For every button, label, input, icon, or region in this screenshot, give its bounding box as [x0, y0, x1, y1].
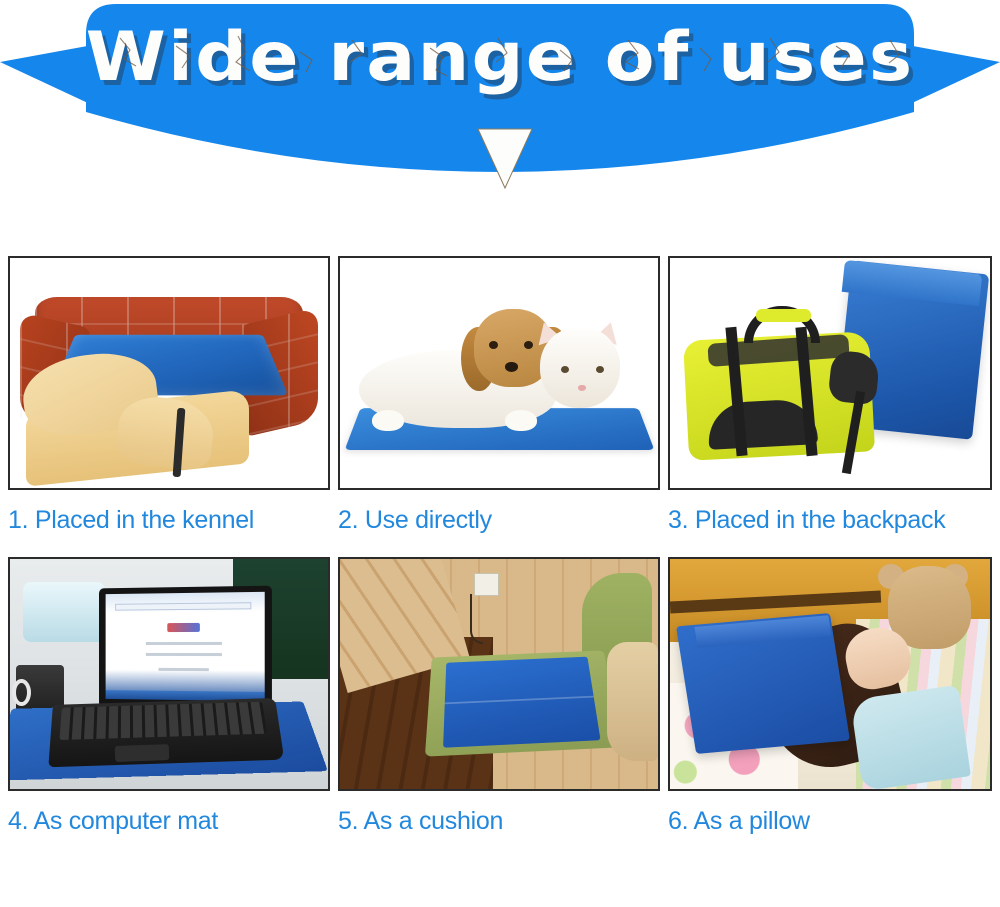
use-caption-6: 6. As a pillow: [668, 805, 992, 837]
puppy-and-cat-on-mat-photo: [338, 256, 660, 490]
mat-on-chair-seat-photo: [338, 557, 660, 791]
header-banner: Wide range of uses: [0, 0, 1000, 215]
product-infographic-page: Wide range of uses: [0, 0, 1000, 907]
girl-sleeping-on-mat-photo: [668, 557, 992, 791]
use-caption-2: 2. Use directly: [338, 504, 660, 536]
use-item-5: 5. As a cushion: [338, 557, 660, 837]
use-item-1: 1. Placed in the kennel: [8, 256, 330, 536]
pet-carrier-bag-with-mat-photo: [668, 256, 992, 490]
uses-row-2: 4. As computer mat: [8, 557, 992, 837]
use-caption-3: 3. Placed in the backpack: [668, 504, 992, 536]
use-caption-5: 5. As a cushion: [338, 805, 660, 837]
pet-bed-with-cooling-mat-photo: [8, 256, 330, 490]
laptop-on-mat-photo: [8, 557, 330, 791]
uses-grid: 1. Placed in the kennel: [8, 256, 992, 837]
uses-row-1: 1. Placed in the kennel: [8, 256, 992, 536]
page-title: Wide range of uses: [0, 18, 1000, 98]
use-item-2: 2. Use directly: [338, 256, 660, 536]
use-caption-4: 4. As computer mat: [8, 805, 330, 837]
use-item-4: 4. As computer mat: [8, 557, 330, 837]
use-item-3: 3. Placed in the backpack: [668, 256, 992, 536]
use-item-6: 6. As a pillow: [668, 557, 992, 837]
use-caption-1: 1. Placed in the kennel: [8, 504, 330, 536]
